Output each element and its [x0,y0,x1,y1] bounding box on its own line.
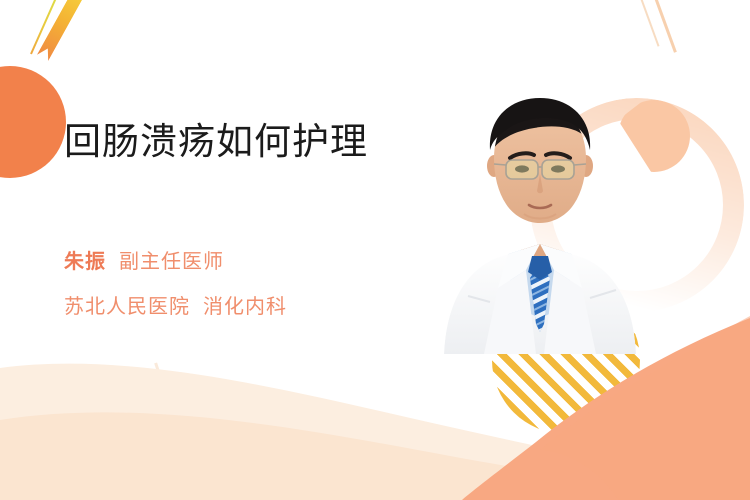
doctor-head [486,98,594,223]
doctor-name: 朱振 [64,251,106,273]
doctor-byline: 朱振副主任医师 [64,249,224,275]
bottom-wave-corner [0,310,750,500]
doctor-info-card: 回肠溃疡如何护理 朱振副主任医师 苏北人民医院消化内科 [0,0,750,500]
top-right-line-decoration-1 [638,0,659,47]
top-right-line-decoration-2 [654,0,677,53]
ribbon-line-decoration [30,0,61,54]
ribbon-wedge-decoration [37,0,86,61]
page-title: 回肠溃疡如何护理 [64,119,368,164]
doctor-affiliation: 苏北人民医院消化内科 [64,290,287,319]
department-name: 消化内科 [203,296,287,318]
orange-circle-decoration [0,66,66,178]
hospital-name: 苏北人民医院 [64,296,190,318]
doctor-title: 副主任医师 [119,251,224,273]
